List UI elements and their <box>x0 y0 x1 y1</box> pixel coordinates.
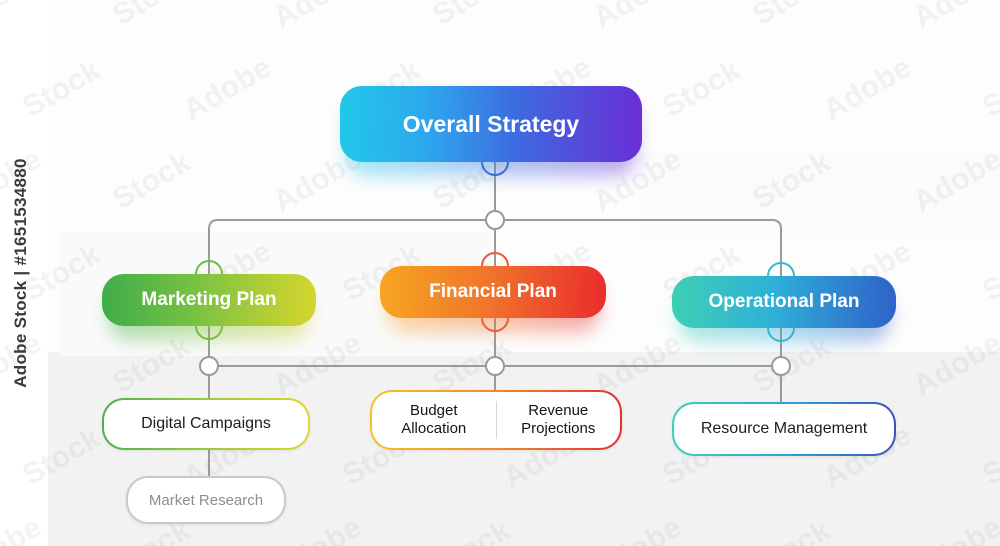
budget-line-2: Allocation <box>401 420 466 437</box>
revenue-line-2: Projections <box>521 420 595 437</box>
budget-line-1: Budget <box>410 402 458 419</box>
node-label: Market Research <box>128 478 284 522</box>
node-marketing-plan[interactable]: Marketing Plan <box>102 274 316 326</box>
node-budget-allocation[interactable]: Budget Allocation <box>372 402 496 439</box>
node-overall-strategy[interactable]: Overall Strategy <box>340 86 642 162</box>
node-operational-plan[interactable]: Operational Plan <box>672 276 896 328</box>
node-resource-management[interactable]: Resource Management <box>672 402 896 456</box>
node-financial-leaves[interactable]: Budget Allocation Revenue Projections <box>370 390 622 450</box>
node-market-research[interactable]: Market Research <box>126 476 286 524</box>
junction-node-marketing <box>200 357 218 375</box>
node-label: Overall Strategy <box>403 111 579 138</box>
split-container: Budget Allocation Revenue Projections <box>372 392 620 448</box>
node-label: Digital Campaigns <box>104 400 308 448</box>
revenue-line-1: Revenue <box>528 402 588 419</box>
node-financial-plan[interactable]: Financial Plan <box>380 266 606 318</box>
node-label: Marketing Plan <box>141 289 276 311</box>
junction-node-level1-center <box>486 211 504 229</box>
node-label: Operational Plan <box>709 291 860 313</box>
node-label: Financial Plan <box>429 281 557 303</box>
node-revenue-projections[interactable]: Revenue Projections <box>497 402 621 439</box>
node-digital-campaigns[interactable]: Digital Campaigns <box>102 398 310 450</box>
node-label: Resource Management <box>674 404 894 454</box>
stock-credit-text: Adobe Stock | #1651534880 <box>11 158 31 388</box>
junction-node-operational <box>772 357 790 375</box>
stock-credit: Adobe Stock | #1651534880 <box>4 0 38 546</box>
diagram-canvas: AdobeStockAdobeStockAdobeStockAdobeStock… <box>0 0 1000 546</box>
junction-node-financial <box>486 357 504 375</box>
